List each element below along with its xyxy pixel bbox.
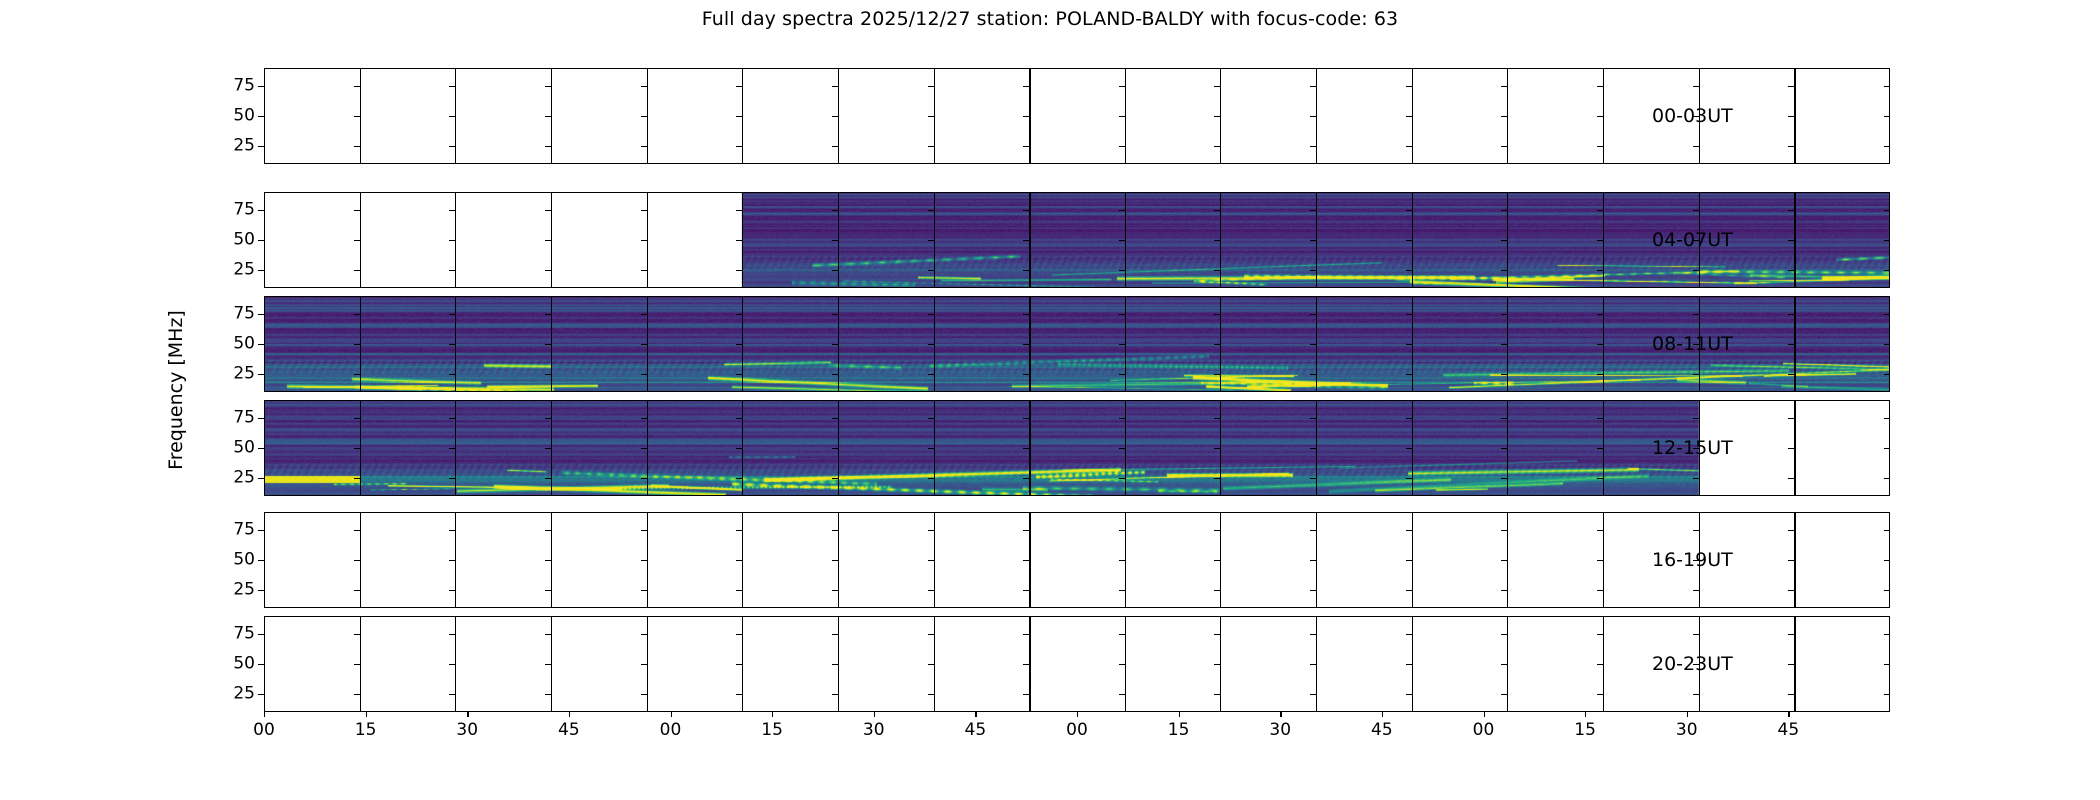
- y-tick-mark: [1310, 694, 1316, 695]
- panel-separator: [360, 512, 361, 608]
- y-tick-mark: [545, 374, 551, 375]
- y-tick-mark: [1406, 270, 1412, 271]
- y-tick-mark: [736, 374, 742, 375]
- panel-separator: [647, 296, 649, 392]
- y-tick-mark: [928, 344, 934, 345]
- panel-separator: [934, 616, 935, 712]
- panel-separator: [1794, 512, 1796, 608]
- y-tick-mark: [1597, 270, 1603, 271]
- y-tick-mark: [545, 560, 551, 561]
- panel-separator: [1794, 400, 1796, 496]
- y-tick-mark: [1693, 634, 1699, 635]
- y-tick-mark: [928, 530, 934, 531]
- panel-separator: [1220, 68, 1221, 164]
- y-tick-mark: [545, 270, 551, 271]
- panel-separator: [934, 400, 935, 496]
- y-tick-mark: [736, 590, 742, 591]
- y-tick-mark: [354, 448, 360, 449]
- panel-separator: [455, 400, 456, 496]
- y-tick-mark: [928, 240, 934, 241]
- panel-separator: [1125, 296, 1126, 392]
- x-tick-mark: [1687, 712, 1688, 717]
- y-tick-mark: [1788, 694, 1794, 695]
- panel-separator: [742, 68, 743, 164]
- panel-separator: [551, 68, 552, 164]
- x-tick-label: 45: [558, 722, 580, 739]
- x-tick-mark: [1585, 712, 1586, 717]
- spectrogram-image: [264, 296, 1890, 392]
- x-tick-mark: [975, 712, 976, 717]
- y-tick-mark: [1501, 210, 1507, 211]
- x-tick-label: 00: [1473, 722, 1495, 739]
- y-tick-mark-outer: [258, 590, 264, 591]
- y-tick-mark: [545, 146, 551, 147]
- panel-separator: [1316, 400, 1317, 496]
- y-tick-mark: [1119, 664, 1125, 665]
- y-tick-mark: [354, 418, 360, 419]
- panel-separator: [1220, 192, 1221, 288]
- y-tick-mark: [736, 664, 742, 665]
- y-tick-mark: [1788, 86, 1794, 87]
- y-tick-mark: [1023, 210, 1029, 211]
- y-tick-mark: [1119, 210, 1125, 211]
- y-tick-mark: [1406, 634, 1412, 635]
- y-tick-mark: [1214, 694, 1220, 695]
- y-tick-mark: [545, 478, 551, 479]
- y-tick-label: 75: [233, 626, 255, 643]
- y-tick-mark: [1693, 478, 1699, 479]
- y-tick-mark: [1023, 270, 1029, 271]
- y-tick-mark: [1406, 694, 1412, 695]
- panel-separator: [1220, 512, 1221, 608]
- y-tick-label: 50: [233, 552, 255, 569]
- panel-separator: [1125, 616, 1126, 712]
- y-tick-mark: [1693, 374, 1699, 375]
- y-tick-mark: [1501, 314, 1507, 315]
- y-tick-mark: [1597, 116, 1603, 117]
- panel-separator: [838, 400, 839, 496]
- panel-separator: [1507, 192, 1508, 288]
- y-tick-mark-outer: [258, 478, 264, 479]
- y-tick-mark: [832, 210, 838, 211]
- y-tick-mark: [1023, 374, 1029, 375]
- y-tick-mark: [1788, 270, 1794, 271]
- y-tick-mark: [1501, 448, 1507, 449]
- y-tick-mark: [1406, 418, 1412, 419]
- y-tick-mark: [1788, 634, 1794, 635]
- y-tick-mark: [736, 210, 742, 211]
- panel-separator: [647, 616, 649, 712]
- y-tick-mark: [1884, 694, 1890, 695]
- y-tick-mark: [1884, 146, 1890, 147]
- panel-separator: [1507, 616, 1508, 712]
- row-frame: [264, 512, 1890, 608]
- y-tick-mark: [1214, 664, 1220, 665]
- y-tick-mark: [1693, 146, 1699, 147]
- y-tick-mark: [545, 240, 551, 241]
- x-tick-label: 00: [660, 722, 682, 739]
- y-tick-mark: [641, 116, 647, 117]
- y-tick-mark: [1310, 210, 1316, 211]
- panel-separator: [1029, 512, 1031, 608]
- x-tick-label: 15: [1574, 722, 1596, 739]
- y-tick-mark: [641, 664, 647, 665]
- y-tick-mark: [1788, 478, 1794, 479]
- x-tick-label: 15: [355, 722, 377, 739]
- y-tick-mark: [641, 694, 647, 695]
- y-tick-mark: [545, 590, 551, 591]
- y-tick-mark: [1406, 210, 1412, 211]
- y-tick-mark-outer: [258, 314, 264, 315]
- x-tick-mark: [366, 712, 367, 717]
- y-tick-mark: [354, 374, 360, 375]
- y-tick-mark: [832, 448, 838, 449]
- y-tick-mark: [832, 478, 838, 479]
- y-tick-mark: [545, 530, 551, 531]
- panel-separator: [1507, 68, 1508, 164]
- y-tick-mark: [832, 116, 838, 117]
- y-tick-mark: [832, 314, 838, 315]
- spectrogram-row[interactable]: 755025: [264, 192, 1890, 288]
- y-tick-label: 25: [233, 262, 255, 279]
- y-tick-mark: [1501, 418, 1507, 419]
- panel-separator: [1603, 68, 1604, 164]
- y-tick-mark-outer: [258, 146, 264, 147]
- y-tick-mark: [832, 344, 838, 345]
- y-tick-mark: [449, 590, 455, 591]
- y-tick-label: 25: [233, 470, 255, 487]
- y-tick-mark: [449, 374, 455, 375]
- y-tick-mark: [832, 664, 838, 665]
- x-tick-mark: [1077, 712, 1078, 717]
- y-tick-mark: [832, 694, 838, 695]
- row-label-04-07ut: 04-07UT: [1652, 229, 1733, 251]
- panel-separator: [1029, 296, 1031, 392]
- y-tick-mark: [1214, 634, 1220, 635]
- y-tick-mark: [1023, 146, 1029, 147]
- y-tick-mark: [1501, 270, 1507, 271]
- panel-separator: [455, 296, 456, 392]
- y-tick-mark: [1214, 146, 1220, 147]
- y-tick-mark: [1406, 530, 1412, 531]
- y-tick-mark: [1214, 530, 1220, 531]
- y-tick-mark: [641, 210, 647, 211]
- y-tick-mark: [1310, 590, 1316, 591]
- y-tick-mark: [1119, 146, 1125, 147]
- panel-separator: [838, 512, 839, 608]
- y-tick-mark: [1501, 590, 1507, 591]
- y-tick-mark: [449, 530, 455, 531]
- y-tick-mark: [1597, 448, 1603, 449]
- y-tick-label: 75: [233, 522, 255, 539]
- y-tick-mark: [354, 634, 360, 635]
- y-tick-mark: [736, 694, 742, 695]
- y-tick-mark: [449, 314, 455, 315]
- y-tick-mark: [1214, 116, 1220, 117]
- y-tick-mark: [545, 664, 551, 665]
- y-tick-label: 50: [233, 336, 255, 353]
- y-tick-mark: [1214, 374, 1220, 375]
- y-tick-label: 75: [233, 410, 255, 427]
- y-tick-mark: [928, 590, 934, 591]
- y-tick-mark: [354, 694, 360, 695]
- y-tick-mark: [1023, 560, 1029, 561]
- y-tick-mark: [1788, 530, 1794, 531]
- y-tick-mark: [641, 314, 647, 315]
- x-tick-label: 30: [863, 722, 885, 739]
- y-tick-mark: [1119, 240, 1125, 241]
- panel-separator: [1412, 68, 1414, 164]
- y-tick-mark: [1597, 146, 1603, 147]
- x-tick-mark: [1382, 712, 1383, 717]
- panel-separator: [934, 192, 935, 288]
- y-tick-mark: [1788, 344, 1794, 345]
- panel-separator: [1603, 512, 1604, 608]
- panel-separator: [1412, 616, 1414, 712]
- panel-separator: [1316, 512, 1317, 608]
- y-tick-mark: [1023, 418, 1029, 419]
- y-tick-mark: [1214, 270, 1220, 271]
- y-tick-mark: [1884, 344, 1890, 345]
- spectrogram-row[interactable]: 755025: [264, 616, 1890, 712]
- y-tick-mark: [928, 560, 934, 561]
- y-tick-mark: [832, 240, 838, 241]
- y-tick-mark: [545, 86, 551, 87]
- y-tick-mark: [1406, 478, 1412, 479]
- y-tick-mark: [1788, 116, 1794, 117]
- x-tick-label: 30: [456, 722, 478, 739]
- y-tick-mark: [1788, 240, 1794, 241]
- panel-separator: [838, 296, 839, 392]
- y-tick-mark-outer: [258, 116, 264, 117]
- panel-separator: [360, 296, 361, 392]
- panel-separator: [934, 512, 935, 608]
- y-tick-mark: [354, 210, 360, 211]
- y-tick-mark: [1310, 374, 1316, 375]
- y-tick-mark: [354, 478, 360, 479]
- y-tick-mark: [449, 270, 455, 271]
- panel-separator: [1029, 192, 1031, 288]
- y-tick-mark: [1023, 590, 1029, 591]
- y-tick-mark: [1501, 694, 1507, 695]
- y-tick-mark: [545, 314, 551, 315]
- y-tick-mark: [928, 314, 934, 315]
- spectrogram-image: [264, 192, 1890, 288]
- y-tick-mark: [1597, 86, 1603, 87]
- x-tick-mark: [467, 712, 468, 717]
- y-tick-mark: [1023, 448, 1029, 449]
- y-tick-mark: [1693, 86, 1699, 87]
- y-tick-mark: [1214, 590, 1220, 591]
- panel-separator: [360, 616, 361, 712]
- panel-separator: [647, 68, 649, 164]
- y-tick-mark: [641, 270, 647, 271]
- y-tick-mark: [928, 664, 934, 665]
- y-tick-mark: [832, 634, 838, 635]
- y-tick-mark: [354, 314, 360, 315]
- y-tick-mark: [1214, 448, 1220, 449]
- y-tick-mark: [1884, 530, 1890, 531]
- y-tick-mark: [449, 344, 455, 345]
- panel-separator: [551, 192, 552, 288]
- y-tick-mark: [1119, 270, 1125, 271]
- y-tick-mark: [449, 210, 455, 211]
- y-tick-mark: [1884, 448, 1890, 449]
- x-tick-label: 45: [1371, 722, 1393, 739]
- panel-separator: [1603, 296, 1604, 392]
- y-tick-mark: [449, 86, 455, 87]
- y-tick-mark-outer: [258, 210, 264, 211]
- y-tick-mark: [1788, 146, 1794, 147]
- y-tick-label: 50: [233, 108, 255, 125]
- y-tick-mark: [1119, 694, 1125, 695]
- x-tick-label: 45: [965, 722, 987, 739]
- y-tick-mark: [832, 530, 838, 531]
- spectrogram-row[interactable]: 755025: [264, 400, 1890, 496]
- panel-separator: [1412, 296, 1414, 392]
- panel-separator: [455, 512, 456, 608]
- x-tick-mark: [569, 712, 570, 717]
- y-tick-label: 75: [233, 306, 255, 323]
- panel-separator: [1794, 296, 1796, 392]
- y-tick-mark: [641, 560, 647, 561]
- y-tick-mark: [928, 86, 934, 87]
- row-label-16-19ut: 16-19UT: [1652, 549, 1733, 571]
- panel-separator: [1125, 400, 1126, 496]
- y-tick-mark: [736, 560, 742, 561]
- y-tick-mark: [736, 86, 742, 87]
- y-tick-label: 50: [233, 656, 255, 673]
- x-tick-label: 00: [1066, 722, 1088, 739]
- y-tick-mark: [736, 478, 742, 479]
- y-tick-label: 50: [233, 232, 255, 249]
- y-tick-mark-outer: [258, 418, 264, 419]
- panel-separator: [1507, 512, 1508, 608]
- spectrogram-row[interactable]: 755025: [264, 68, 1890, 164]
- panel-separator: [934, 68, 935, 164]
- y-tick-mark: [1693, 210, 1699, 211]
- y-tick-mark: [1884, 240, 1890, 241]
- panel-separator: [551, 400, 552, 496]
- y-tick-mark: [641, 448, 647, 449]
- y-tick-mark: [1214, 418, 1220, 419]
- y-tick-mark: [1406, 560, 1412, 561]
- y-tick-mark: [1501, 116, 1507, 117]
- y-tick-mark: [1023, 530, 1029, 531]
- panel-separator: [1316, 296, 1317, 392]
- y-tick-mark: [1023, 240, 1029, 241]
- x-tick-label: 15: [761, 722, 783, 739]
- y-tick-mark: [1501, 530, 1507, 531]
- y-tick-mark: [1214, 210, 1220, 211]
- y-tick-mark: [1406, 448, 1412, 449]
- y-tick-mark: [1597, 694, 1603, 695]
- panel-separator: [1125, 512, 1126, 608]
- y-tick-mark: [1023, 664, 1029, 665]
- panel-separator: [455, 192, 456, 288]
- panel-separator: [838, 192, 839, 288]
- y-tick-mark: [1119, 86, 1125, 87]
- y-tick-mark: [928, 210, 934, 211]
- y-tick-mark: [641, 344, 647, 345]
- y-tick-mark: [1310, 478, 1316, 479]
- y-tick-mark: [1693, 590, 1699, 591]
- y-tick-mark: [1119, 478, 1125, 479]
- y-tick-mark: [1501, 344, 1507, 345]
- x-tick-mark: [1280, 712, 1281, 717]
- y-tick-mark: [1693, 694, 1699, 695]
- row-label-12-15ut: 12-15UT: [1652, 437, 1733, 459]
- y-tick-mark: [354, 270, 360, 271]
- y-tick-mark: [1597, 374, 1603, 375]
- y-tick-mark: [354, 530, 360, 531]
- y-tick-mark: [1310, 146, 1316, 147]
- y-tick-mark: [1501, 86, 1507, 87]
- y-tick-mark: [545, 418, 551, 419]
- y-tick-mark: [1214, 86, 1220, 87]
- panel-separator: [647, 192, 649, 288]
- panel-separator: [742, 400, 743, 496]
- y-tick-mark: [736, 634, 742, 635]
- y-tick-mark: [1119, 314, 1125, 315]
- y-tick-mark: [1597, 418, 1603, 419]
- y-tick-mark: [928, 418, 934, 419]
- x-tick-mark: [1179, 712, 1180, 717]
- y-tick-mark: [1788, 664, 1794, 665]
- x-tick-label: 30: [1676, 722, 1698, 739]
- y-tick-mark: [545, 210, 551, 211]
- figure-title: Full day spectra 2025/12/27 station: POL…: [0, 8, 2100, 30]
- y-tick-mark: [1884, 478, 1890, 479]
- y-tick-mark: [1406, 664, 1412, 665]
- y-tick-mark: [1597, 240, 1603, 241]
- x-tick-label: 15: [1168, 722, 1190, 739]
- y-tick-mark: [1310, 530, 1316, 531]
- y-tick-mark: [736, 314, 742, 315]
- spectrogram-row[interactable]: 755025: [264, 296, 1890, 392]
- y-tick-mark: [1119, 590, 1125, 591]
- y-tick-mark-outer: [258, 240, 264, 241]
- y-tick-mark: [449, 478, 455, 479]
- y-tick-mark: [1310, 344, 1316, 345]
- y-tick-mark: [1597, 560, 1603, 561]
- panel-separator: [742, 192, 743, 288]
- y-tick-label: 25: [233, 138, 255, 155]
- row-frame: [264, 68, 1890, 164]
- y-tick-mark: [832, 374, 838, 375]
- y-tick-mark: [832, 560, 838, 561]
- y-tick-mark: [1119, 374, 1125, 375]
- panel-separator: [838, 616, 839, 712]
- panel-separator: [1316, 192, 1317, 288]
- panel-separator: [455, 616, 456, 712]
- y-tick-mark: [1310, 270, 1316, 271]
- x-tick-mark: [1484, 712, 1485, 717]
- y-tick-mark: [1597, 530, 1603, 531]
- panel-separator: [1794, 192, 1796, 288]
- y-tick-mark: [1214, 240, 1220, 241]
- y-tick-mark: [1884, 590, 1890, 591]
- spectrogram-row[interactable]: 755025: [264, 512, 1890, 608]
- y-tick-mark: [1884, 314, 1890, 315]
- y-tick-mark: [449, 418, 455, 419]
- y-tick-mark: [1884, 664, 1890, 665]
- panel-separator: [742, 512, 743, 608]
- y-tick-mark: [1693, 270, 1699, 271]
- x-tick-mark: [772, 712, 773, 717]
- y-tick-mark: [1406, 86, 1412, 87]
- y-tick-mark: [641, 478, 647, 479]
